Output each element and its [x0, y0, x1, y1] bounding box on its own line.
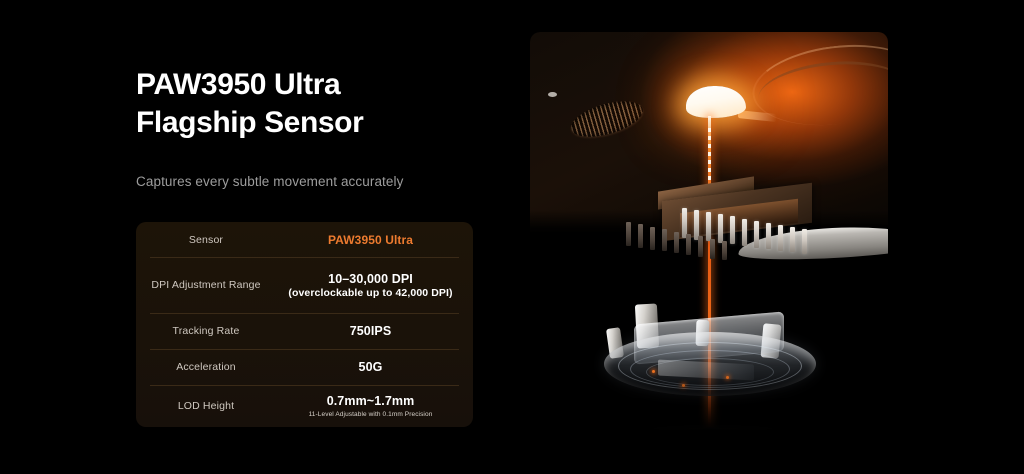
ember-dot [726, 376, 729, 379]
product-feature-section: PAW3950 Ultra Flagship Sensor Captures e… [0, 0, 1024, 474]
ic-pin [662, 229, 667, 251]
ic-pin [698, 236, 703, 256]
ic-pin [710, 239, 715, 259]
table-row: Acceleration 50G [136, 349, 473, 385]
table-row: Tracking Rate 750IPS [136, 313, 473, 349]
ic-pin [718, 214, 723, 243]
ic-pin [802, 229, 807, 254]
product-render-image [530, 32, 888, 436]
spec-value: 10–30,000 DPI (overclockable up to 42,00… [276, 272, 473, 299]
spec-label: DPI Adjustment Range [136, 279, 276, 291]
ic-pin [638, 224, 643, 247]
table-row: Sensor PAW3950 Ultra [136, 222, 473, 257]
beam-reflection [693, 430, 727, 436]
ic-pin [674, 232, 679, 254]
ic-pin [694, 210, 699, 240]
table-row: LOD Height 0.7mm~1.7mm 11-Level Adjustab… [136, 385, 473, 427]
spec-value-main: 10–30,000 DPI [276, 272, 465, 286]
ember-dot [652, 370, 655, 373]
spec-value-note: 11-Level Adjustable with 0.1mm Precision [276, 411, 465, 418]
spec-label: Tracking Rate [136, 325, 276, 337]
spec-value-secondary: (overclockable up to 42,000 DPI) [276, 287, 465, 299]
spec-label: Sensor [136, 234, 276, 246]
spec-label: Acceleration [136, 361, 276, 373]
ic-pin [626, 222, 631, 246]
ember-dot [682, 384, 685, 387]
spec-table: Sensor PAW3950 Ultra DPI Adjustment Rang… [136, 222, 473, 427]
spec-value: 750IPS [276, 324, 473, 338]
page-title: PAW3950 Ultra Flagship Sensor [136, 66, 486, 142]
spec-value-main: 0.7mm~1.7mm [276, 394, 465, 408]
spec-value: 50G [276, 360, 473, 374]
ic-pin [790, 227, 795, 253]
ic-pin [650, 227, 655, 250]
headline-line-2: Flagship Sensor [136, 104, 486, 142]
spec-value: PAW3950 Ultra [276, 233, 473, 247]
subtitle: Captures every subtle movement accuratel… [136, 174, 486, 189]
ic-pin [754, 221, 759, 248]
ic-pin [766, 223, 771, 250]
spec-value: 0.7mm~1.7mm 11-Level Adjustable with 0.1… [276, 394, 473, 418]
ic-pin [686, 234, 691, 255]
table-row: DPI Adjustment Range 10–30,000 DPI (over… [136, 257, 473, 313]
ic-pin [742, 219, 747, 247]
ic-pin [730, 216, 735, 244]
spec-label: LOD Height [136, 400, 276, 412]
copy-block: PAW3950 Ultra Flagship Sensor Captures e… [136, 66, 486, 189]
headline-line-1: PAW3950 Ultra [136, 68, 340, 101]
ic-pin [778, 225, 783, 251]
ic-pin [722, 241, 727, 260]
ic-pin [706, 212, 711, 241]
